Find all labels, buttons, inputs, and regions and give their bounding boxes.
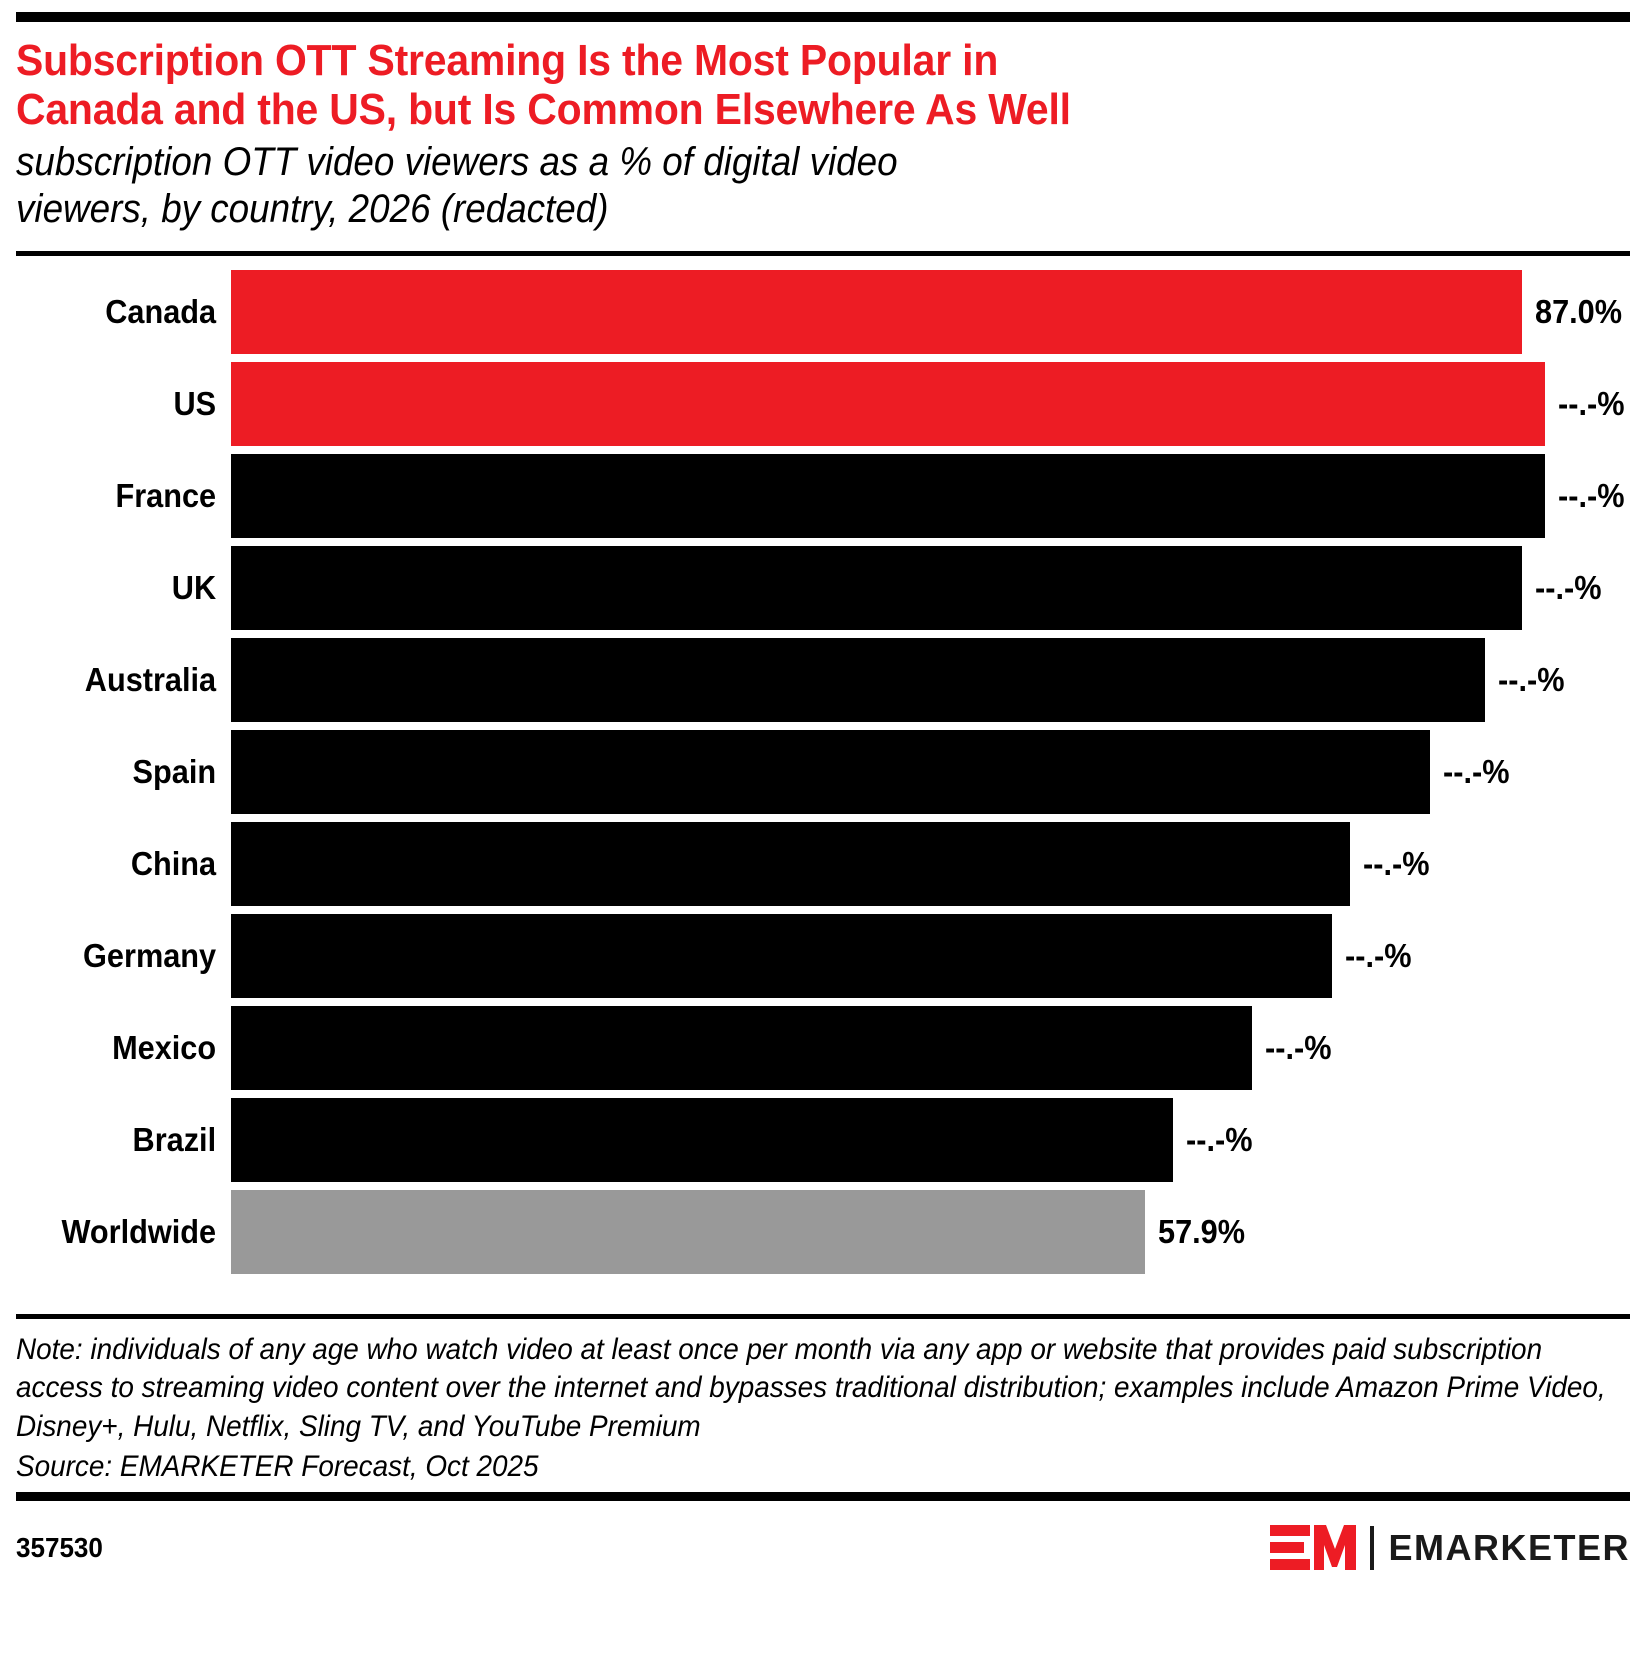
value-label-uk: --.-% xyxy=(1522,569,1602,607)
footer-rule xyxy=(16,1492,1630,1501)
page-title: Subscription OTT Streaming Is the Most P… xyxy=(16,36,1517,135)
category-label-mexico: Mexico xyxy=(31,1029,231,1067)
bar-brazil xyxy=(231,1098,1173,1182)
bar-zone: --.-% xyxy=(231,546,1630,630)
chart-footer: 357530 EMARKETER xyxy=(16,1501,1630,1573)
category-label-brazil: Brazil xyxy=(31,1121,231,1159)
chart-row: Worldwide 57.9% xyxy=(16,1190,1630,1274)
note-text: Note: individuals of any age who watch v… xyxy=(16,1331,1622,1446)
bar-zone: 57.9% xyxy=(231,1190,1630,1274)
category-label-canada: Canada xyxy=(31,293,231,331)
chart-row: France --.-% xyxy=(16,454,1630,538)
category-label-germany: Germany xyxy=(31,937,231,975)
value-label-china: --.-% xyxy=(1350,845,1430,883)
bar-zone: --.-% xyxy=(231,1006,1630,1090)
category-label-worldwide: Worldwide xyxy=(31,1213,231,1251)
category-label-france: France xyxy=(31,477,231,515)
category-label-us: US xyxy=(31,385,231,423)
chart-row: Australia --.-% xyxy=(16,638,1630,722)
chart-row: China --.-% xyxy=(16,822,1630,906)
top-rule xyxy=(16,12,1630,22)
category-label-australia: Australia xyxy=(31,661,231,699)
value-label-canada: 87.0% xyxy=(1522,293,1622,331)
bar-mexico xyxy=(231,1006,1252,1090)
bar-chart: Canada 87.0% US --.-% France --.-% UK xyxy=(16,256,1630,1284)
brand-name: EMARKETER xyxy=(1388,1527,1630,1569)
bar-spain xyxy=(231,730,1430,814)
value-label-spain: --.-% xyxy=(1430,753,1510,791)
category-label-uk: UK xyxy=(31,569,231,607)
bar-us xyxy=(231,362,1545,446)
bar-germany xyxy=(231,914,1332,998)
chart-row: US --.-% xyxy=(16,362,1630,446)
bar-worldwide xyxy=(231,1190,1145,1274)
chart-row: UK --.-% xyxy=(16,546,1630,630)
bar-uk xyxy=(231,546,1522,630)
notes-section: Note: individuals of any age who watch v… xyxy=(16,1319,1630,1493)
bar-zone: --.-% xyxy=(231,454,1630,538)
page-subtitle: subscription OTT video viewers as a % of… xyxy=(16,139,1501,233)
value-label-australia: --.-% xyxy=(1485,661,1565,699)
chart-row: Spain --.-% xyxy=(16,730,1630,814)
value-label-germany: --.-% xyxy=(1332,937,1412,975)
value-label-us: --.-% xyxy=(1545,385,1625,423)
value-label-brazil: --.-% xyxy=(1173,1121,1253,1159)
bar-canada xyxy=(231,270,1522,354)
bar-zone: --.-% xyxy=(231,730,1630,814)
chart-id: 357530 xyxy=(16,1532,103,1564)
chart-row: Mexico --.-% xyxy=(16,1006,1630,1090)
bar-china xyxy=(231,822,1350,906)
bar-zone: --.-% xyxy=(231,822,1630,906)
value-label-mexico: --.-% xyxy=(1252,1029,1332,1067)
value-label-france: --.-% xyxy=(1545,477,1625,515)
emarketer-logo: EMARKETER xyxy=(1270,1523,1630,1573)
bar-zone: --.-% xyxy=(231,362,1630,446)
category-label-spain: Spain xyxy=(31,753,231,791)
value-label-worldwide: 57.9% xyxy=(1145,1213,1245,1251)
em-monogram-icon xyxy=(1270,1523,1356,1573)
bar-zone: --.-% xyxy=(231,914,1630,998)
chart-row: Canada 87.0% xyxy=(16,270,1630,354)
chart-header: Subscription OTT Streaming Is the Most P… xyxy=(16,22,1630,251)
chart-row: Germany --.-% xyxy=(16,914,1630,998)
bar-australia xyxy=(231,638,1485,722)
chart-page: Subscription OTT Streaming Is the Most P… xyxy=(0,0,1646,1670)
bar-zone: --.-% xyxy=(231,638,1630,722)
bar-zone: --.-% xyxy=(231,1098,1630,1182)
bar-zone: 87.0% xyxy=(231,270,1630,354)
logo-divider xyxy=(1370,1526,1374,1570)
chart-row: Brazil --.-% xyxy=(16,1098,1630,1182)
source-text: Source: EMARKETER Forecast, Oct 2025 xyxy=(16,1448,1622,1486)
bar-france xyxy=(231,454,1545,538)
category-label-china: China xyxy=(31,845,231,883)
